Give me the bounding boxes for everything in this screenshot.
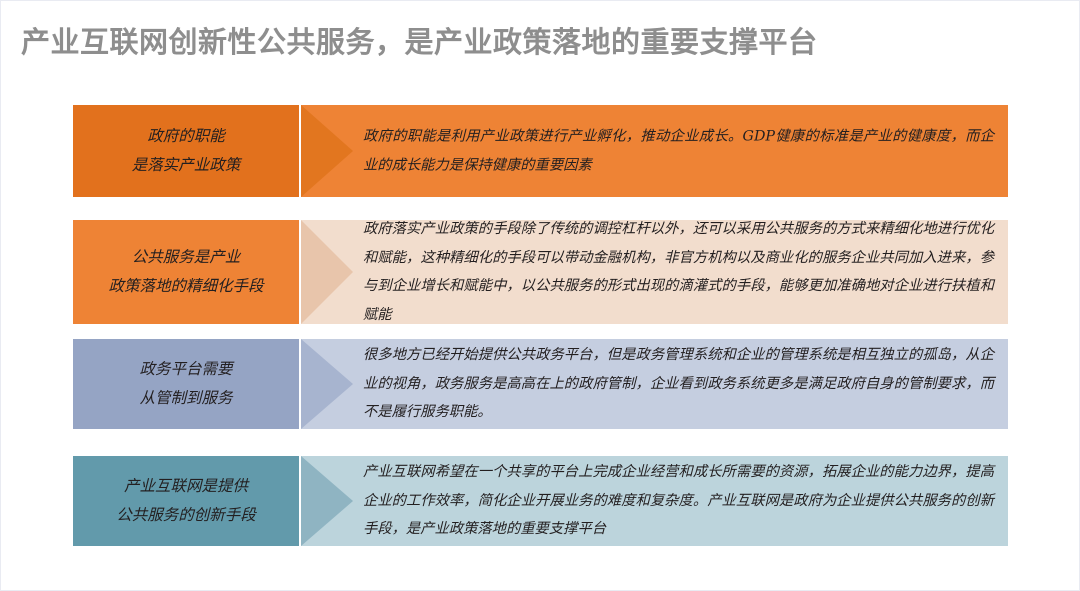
row-body-text: 政府的职能是利用产业政策进行产业孵化，推动企业成长。GDP健康的标准是产业的健康… (363, 122, 994, 179)
row-body-text: 政府落实产业政策的手段除了传统的调控杠杆以外，还可以采用公共服务的方式来精细化地… (363, 215, 994, 329)
row-body-text: 产业互联网希望在一个共享的平台上完成企业经营和成长所需要的资源，拓展企业的能力边… (363, 458, 994, 544)
arrow-right-icon (301, 105, 353, 197)
row-body-panel[interactable]: 产业互联网希望在一个共享的平台上完成企业经营和成长所需要的资源，拓展企业的能力边… (301, 456, 1008, 546)
arrow-right-icon (301, 220, 353, 324)
content-row: 公共服务是产业 政策落地的精细化手段 政府落实产业政策的手段除了传统的调控杠杆以… (73, 220, 1008, 324)
arrow-right-icon (301, 339, 353, 429)
row-body-panel[interactable]: 很多地方已经开始提供公共政务平台，但是政务管理系统和企业的管理系统是相互独立的孤… (301, 339, 1008, 429)
row-label-text: 政务平台需要 从管制到服务 (139, 355, 232, 412)
row-label-text: 政府的职能 是落实产业政策 (132, 122, 241, 179)
row-body-panel[interactable]: 政府落实产业政策的手段除了传统的调控杠杆以外，还可以采用公共服务的方式来精细化地… (301, 220, 1008, 324)
content-row: 产业互联网是提供 公共服务的创新手段 产业互联网希望在一个共享的平台上完成企业经… (73, 456, 1008, 546)
row-label-block[interactable]: 产业互联网是提供 公共服务的创新手段 (73, 456, 299, 546)
content-row: 政府的职能 是落实产业政策 政府的职能是利用产业政策进行产业孵化，推动企业成长。… (73, 105, 1008, 197)
row-body-text: 很多地方已经开始提供公共政务平台，但是政务管理系统和企业的管理系统是相互独立的孤… (363, 341, 994, 427)
content-row: 政务平台需要 从管制到服务 很多地方已经开始提供公共政务平台，但是政务管理系统和… (73, 339, 1008, 429)
content-rows: 政府的职能 是落实产业政策 政府的职能是利用产业政策进行产业孵化，推动企业成长。… (1, 1, 1080, 591)
slide-canvas: 产业互联网创新性公共服务，是产业政策落地的重要支撑平台 政府的职能 是落实产业政… (0, 0, 1080, 591)
row-body-panel[interactable]: 政府的职能是利用产业政策进行产业孵化，推动企业成长。GDP健康的标准是产业的健康… (301, 105, 1008, 197)
row-label-text: 公共服务是产业 政策落地的精细化手段 (108, 243, 263, 300)
row-label-text: 产业互联网是提供 公共服务的创新手段 (116, 472, 256, 529)
row-label-block[interactable]: 政务平台需要 从管制到服务 (73, 339, 299, 429)
row-label-block[interactable]: 政府的职能 是落实产业政策 (73, 105, 299, 197)
row-label-block[interactable]: 公共服务是产业 政策落地的精细化手段 (73, 220, 299, 324)
arrow-right-icon (301, 456, 353, 546)
